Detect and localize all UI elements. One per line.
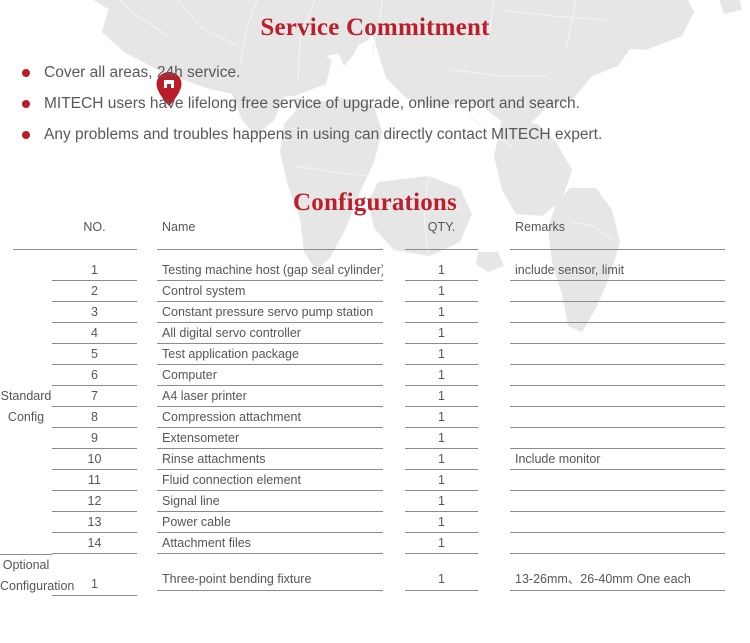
cell-qty-text: 1 [405,344,478,365]
cell-no: 9 [52,428,157,449]
table-row: 10Rinse attachments1Include monitor [0,449,750,470]
cell-name-text: Rinse attachments [157,449,383,470]
cell-qty-text: 1 [405,281,478,302]
cell-no: 11 [52,470,157,491]
cell-no: 7 [52,386,157,407]
cell-qty: 1 [405,281,510,302]
cell-remarks: 13-26mm、26-40mm One each [510,554,750,597]
cell-name: All digital servo controller [157,323,405,344]
cell-name-text: Compression attachment [157,407,383,428]
table-row: OptionalConfiguration1Three-point bendin… [0,554,750,597]
cell-no: 5 [52,344,157,365]
list-item-text: Any problems and troubles happens in usi… [44,126,602,143]
cell-name: Rinse attachments [157,449,405,470]
header-remarks-text: Remarks [510,215,725,239]
cell-no: 13 [52,512,157,533]
cell-qty: 1 [405,449,510,470]
cell-no-text: 12 [52,491,137,512]
list-item: Cover all areas, 24h service. [22,64,750,81]
header-group [0,215,52,239]
bullet-dot-icon [22,131,30,139]
table-row: 2Control system1 [0,281,750,302]
header-no: NO. [52,215,157,239]
cell-qty-text: 1 [405,386,478,407]
cell-remarks-text [510,512,725,533]
cell-remarks [510,302,750,323]
table-row: 5Test application package1 [0,344,750,365]
group-label-line1: Optional [0,555,52,576]
header-name: Name [157,215,405,239]
cell-remarks-text: 13-26mm、26-40mm One each [510,559,725,591]
cell-qty: 1 [405,323,510,344]
cell-no: 6 [52,365,157,386]
cell-name-text: Testing machine host (gap seal cylinder) [157,260,383,281]
table-row: StandardConfig1Testing machine host (gap… [0,260,750,281]
bullet-dot-icon [22,100,30,108]
table-header-rule-row [0,239,750,260]
cell-no: 1 [52,260,157,281]
cell-qty-text: 1 [405,302,478,323]
list-item-text: Cover all areas, 24h service. [44,64,240,81]
cell-no-text: 3 [52,302,137,323]
cell-name: Testing machine host (gap seal cylinder) [157,260,405,281]
header-remarks: Remarks [510,215,750,239]
cell-qty: 1 [405,470,510,491]
cell-no-text: 7 [52,386,137,407]
cell-no: 12 [52,491,157,512]
cell-remarks [510,365,750,386]
cell-remarks [510,281,750,302]
cell-qty-text: 1 [405,428,478,449]
cell-qty: 1 [405,554,510,597]
cell-qty-text: 1 [405,260,478,281]
cell-no-text: 6 [52,365,137,386]
cell-name-text: Attachment files [157,533,383,554]
cell-remarks-text [510,533,725,554]
header-rule-remarks [510,239,750,260]
cell-remarks [510,491,750,512]
cell-name-text: All digital servo controller [157,323,383,344]
cell-qty-text: 1 [405,559,478,591]
cell-remarks: include sensor, limit [510,260,750,281]
header-name-text: Name [157,215,383,239]
cell-remarks [510,323,750,344]
cell-remarks [510,344,750,365]
table-row: 6Computer1 [0,365,750,386]
cell-name: Attachment files [157,533,405,554]
cell-no-text: 2 [52,281,137,302]
cell-no-text: 1 [52,260,137,281]
header-rule-name-line [157,249,383,250]
cell-no: 10 [52,449,157,470]
table-row: 13Power cable1 [0,512,750,533]
header-no-text: NO. [52,215,137,239]
cell-name-text: Computer [157,365,383,386]
cell-qty: 1 [405,344,510,365]
cell-name-text: Control system [157,281,383,302]
table-row: 9Extensometer1 [0,428,750,449]
table-row: 8Compression attachment1 [0,407,750,428]
cell-name-text: Signal line [157,491,383,512]
service-commitment-title: Service Commitment [0,0,750,42]
cell-qty: 1 [405,428,510,449]
cell-remarks-text [510,428,725,449]
cell-name: Three-point bending fixture [157,554,405,597]
cell-name: Constant pressure servo pump station [157,302,405,323]
cell-no-text: 8 [52,407,137,428]
cell-qty: 1 [405,260,510,281]
cell-qty-text: 1 [405,491,478,512]
cell-remarks [510,386,750,407]
cell-name-text: Three-point bending fixture [157,559,383,591]
cell-qty-text: 1 [405,470,478,491]
configurations-heading-wrap: Configurations [0,157,750,215]
cell-name-text: Extensometer [157,428,383,449]
header-rule-qty [405,239,510,260]
cell-qty-text: 1 [405,533,478,554]
cell-name: Extensometer [157,428,405,449]
header-qty-text: QTY. [405,215,478,239]
bullet-dot-icon [22,69,30,77]
cell-name: Signal line [157,491,405,512]
cell-remarks-text [510,323,725,344]
cell-name: Control system [157,281,405,302]
cell-no: 14 [52,533,157,554]
cell-qty: 1 [405,365,510,386]
cell-qty: 1 [405,407,510,428]
cell-name-text: Fluid connection element [157,470,383,491]
group-label-optional: OptionalConfiguration [0,554,52,597]
cell-remarks-text [510,470,725,491]
cell-qty-text: 1 [405,449,478,470]
list-item: MITECH users have lifelong free service … [22,95,750,112]
cell-remarks-text [510,344,725,365]
cell-qty: 1 [405,386,510,407]
cell-remarks-text [510,407,725,428]
configurations-table: NO.NameQTY.RemarksStandardConfig1Testing… [0,215,750,597]
cell-remarks [510,428,750,449]
cell-name: A4 laser printer [157,386,405,407]
cell-remarks: Include monitor [510,449,750,470]
cell-no-text: 13 [52,512,137,533]
cell-no: 4 [52,323,157,344]
cell-no: 8 [52,407,157,428]
list-item-text: MITECH users have lifelong free service … [44,95,580,112]
table-row: 4All digital servo controller1 [0,323,750,344]
header-group-text [0,215,52,239]
cell-remarks-text [510,491,725,512]
header-rule-remarks-line [510,249,725,250]
cell-name-text: A4 laser printer [157,386,383,407]
cell-name-text: Power cable [157,512,383,533]
cell-qty: 1 [405,491,510,512]
table-row: 12Signal line1 [0,491,750,512]
cell-no-text: 11 [52,470,137,491]
cell-remarks [510,512,750,533]
cell-remarks-text [510,365,725,386]
cell-remarks-text: include sensor, limit [510,260,725,281]
header-rule-name [157,239,405,260]
service-commitment-list: Cover all areas, 24h service. MITECH use… [0,42,750,143]
cell-qty-text: 1 [405,512,478,533]
cell-no-text: 5 [52,344,137,365]
header-rule-qty-line [405,249,478,250]
table-row: 3Constant pressure servo pump station1 [0,302,750,323]
cell-qty: 1 [405,512,510,533]
cell-no-text: 14 [52,533,137,554]
cell-no-text: 9 [52,428,137,449]
table-row: 14Attachment files1 [0,533,750,554]
page-content: Service Commitment Cover all areas, 24h … [0,0,750,643]
cell-name: Fluid connection element [157,470,405,491]
header-rule-group-no-line [13,249,137,250]
cell-name-text: Constant pressure servo pump station [157,302,383,323]
header-qty: QTY. [405,215,510,239]
cell-name: Compression attachment [157,407,405,428]
cell-qty: 1 [405,533,510,554]
group-label-line2: Configuration [0,576,52,597]
cell-remarks-text: Include monitor [510,449,725,470]
cell-remarks-text [510,386,725,407]
cell-no-text: 4 [52,323,137,344]
cell-name: Test application package [157,344,405,365]
table-row: 7A4 laser printer1 [0,386,750,407]
cell-no: 3 [52,302,157,323]
cell-name: Computer [157,365,405,386]
cell-remarks [510,533,750,554]
group-label-standard: StandardConfig [0,260,52,554]
configurations-title: Configurations [0,189,750,217]
cell-name: Power cable [157,512,405,533]
table-header-row: NO.NameQTY.Remarks [0,215,750,239]
cell-qty-text: 1 [405,365,478,386]
cell-no-text: 10 [52,449,137,470]
cell-remarks-text [510,281,725,302]
group-label-line1: Standard [0,386,52,407]
cell-qty-text: 1 [405,407,478,428]
table-row: 11Fluid connection element1 [0,470,750,491]
cell-remarks-text [510,302,725,323]
header-rule-group-no [0,239,157,260]
cell-qty-text: 1 [405,323,478,344]
cell-name-text: Test application package [157,344,383,365]
cell-qty: 1 [405,302,510,323]
cell-remarks [510,470,750,491]
cell-no: 2 [52,281,157,302]
cell-remarks [510,407,750,428]
list-item: Any problems and troubles happens in usi… [22,126,750,143]
group-label-line2: Config [0,407,52,428]
